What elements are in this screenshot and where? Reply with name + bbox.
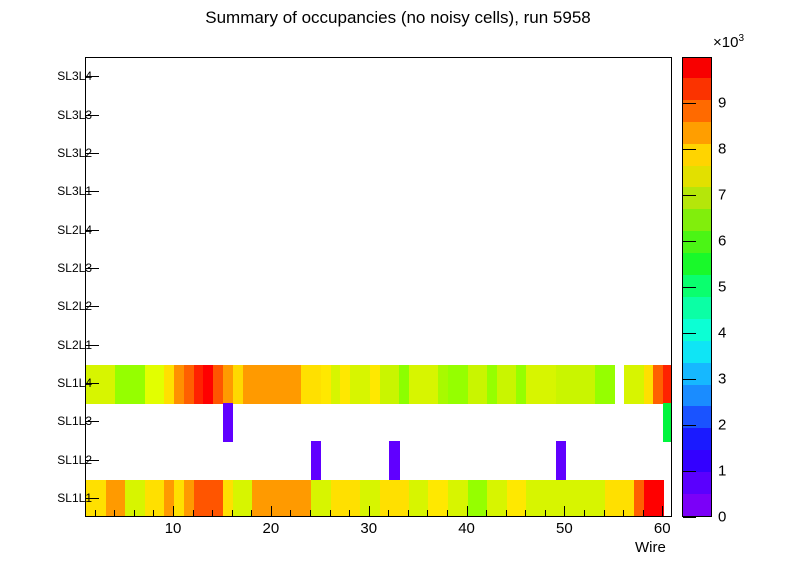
x-axis-tick-label: 50 [556,520,573,537]
x-axis-tick-label: 20 [263,520,280,537]
color-bar-band [683,187,711,210]
y-axis-tick [86,383,99,384]
x-axis-major-tick [369,506,370,517]
x-axis-minor-tick [232,510,233,517]
color-bar-band [683,296,711,319]
heatmap-cell [223,403,233,442]
x-axis-minor-tick [525,510,526,517]
color-bar-tick-label: 6 [718,233,726,250]
color-bar-tick [683,379,696,380]
x-axis-minor-tick [486,510,487,517]
color-bar-band [683,384,711,407]
x-axis-major-tick [662,506,663,517]
x-axis-minor-tick [584,510,585,517]
y-axis-tick [86,153,99,154]
x-axis-minor-tick [623,510,624,517]
y-axis-tick [86,345,99,346]
color-bar-tick-label: 9 [718,95,726,112]
color-bar-tick-label: 8 [718,141,726,158]
x-axis-minor-tick [193,510,194,517]
plot-frame [85,57,672,517]
x-axis-minor-tick [310,510,311,517]
x-axis-major-tick [271,506,272,517]
heatmap-cell [389,441,399,480]
color-bar-tick-label: 5 [718,279,726,296]
x-axis-minor-tick [427,510,428,517]
page-title: Summary of occupancies (no noisy cells),… [0,8,796,28]
color-bar-tick [683,517,696,518]
color-bar-tick-label: 3 [718,371,726,388]
heatmap-cell [556,441,566,480]
color-bar-band [683,318,711,341]
x-axis-minor-tick [114,510,115,517]
color-bar-band [683,274,711,297]
heatmap-cell [605,365,615,404]
color-bar-tick-label: 1 [718,463,726,480]
x-axis-minor-tick [506,510,507,517]
x-axis-minor-tick [388,510,389,517]
y-axis-tick [86,460,99,461]
x-axis-minor-tick [408,510,409,517]
y-axis-tick [86,76,99,77]
color-bar-tick-label: 0 [718,509,726,526]
color-bar-band [683,450,711,473]
color-bar-tick [683,425,696,426]
color-bar-band [683,57,711,78]
x-axis-major-tick [173,506,174,517]
x-axis-minor-tick [545,510,546,517]
x-axis-tick-label: 60 [654,520,671,537]
color-bar-tick [683,103,696,104]
y-axis-tick [86,498,99,499]
color-bar-tick [683,287,696,288]
color-bar-band [683,253,711,276]
color-bar-band [683,121,711,144]
x-axis-tick-label: 40 [458,520,475,537]
x-axis-minor-tick [330,510,331,517]
x-axis-minor-tick [290,510,291,517]
x-axis-tick-label: 10 [165,520,182,537]
color-bar-band [683,340,711,363]
color-bar-band [683,362,711,385]
color-bar-tick [683,333,696,334]
heatmap-cell [311,441,321,480]
x-axis-minor-tick [251,510,252,517]
color-bar-tick [683,241,696,242]
color-bar-band [683,77,711,100]
y-axis-tick [86,230,99,231]
x-axis-minor-tick [134,510,135,517]
color-bar-tick [683,149,696,150]
x-axis-minor-tick [447,510,448,517]
x-axis-minor-tick [212,510,213,517]
color-bar-exponent-power: 3 [738,33,744,44]
x-axis-major-tick [564,506,565,517]
x-axis-minor-tick [95,510,96,517]
heatmap-cell [663,403,672,442]
y-axis-tick [86,268,99,269]
y-axis-tick [86,191,99,192]
x-axis-minor-tick [349,510,350,517]
y-axis-tick [86,306,99,307]
color-bar-tick-label: 4 [718,325,726,342]
color-bar-tick [683,471,696,472]
x-axis-title: Wire [635,539,666,556]
color-bar-band [683,165,711,188]
heatmap-cell [663,365,672,404]
x-axis-tick-label: 30 [360,520,377,537]
color-bar-exponent: ×103 [713,33,744,51]
y-axis-tick [86,115,99,116]
color-bar-band [683,209,711,232]
color-bar-tick-label: 2 [718,417,726,434]
color-bar-exponent-base: ×10 [713,34,738,51]
x-axis-minor-tick [153,510,154,517]
x-axis-minor-tick [604,510,605,517]
color-bar-band [683,143,711,166]
color-bar-tick-label: 7 [718,187,726,204]
root-canvas: Summary of occupancies (no noisy cells),… [0,0,796,572]
y-axis-tick [86,421,99,422]
x-axis-major-tick [467,506,468,517]
x-axis-minor-tick [643,510,644,517]
color-bar-tick [683,195,696,196]
color-bar-band [683,428,711,451]
color-bar-band [683,494,711,517]
color-bar-band [683,472,711,495]
